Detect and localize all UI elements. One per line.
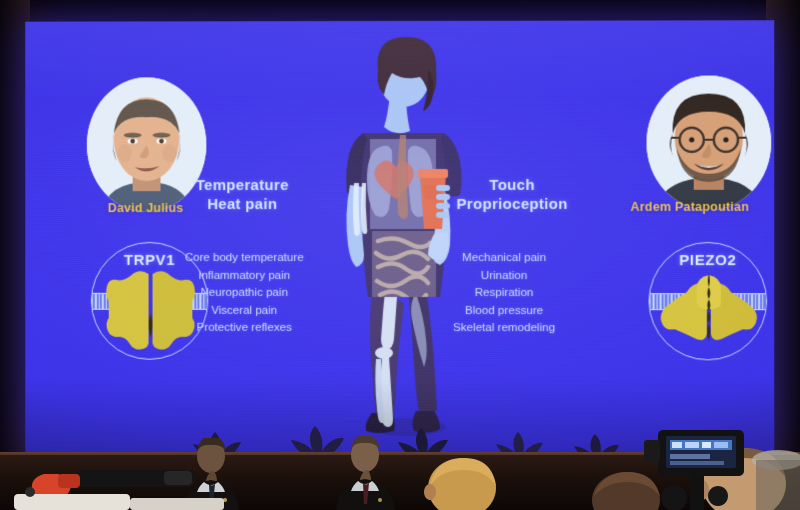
projection-screen: David Julius xyxy=(25,20,774,456)
screen-bottom-frame xyxy=(23,452,777,460)
projector-scanlines xyxy=(25,20,774,456)
screenshot-root: David Julius xyxy=(0,0,800,510)
